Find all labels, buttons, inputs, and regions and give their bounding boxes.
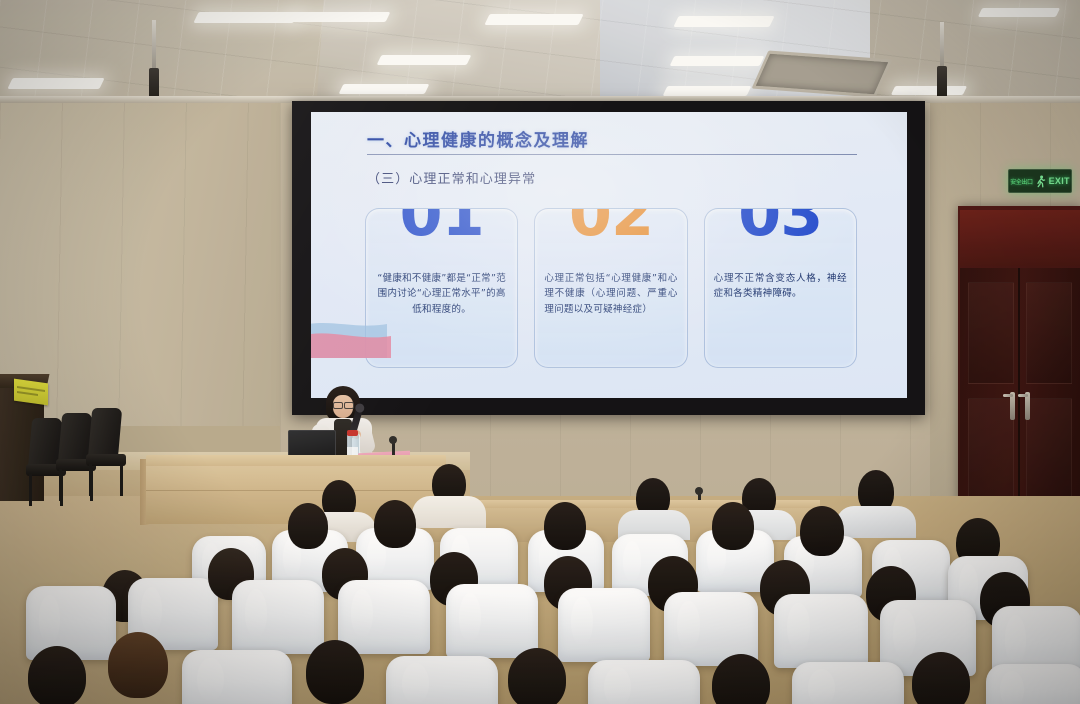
attendee-head [108,632,168,698]
audience-chair [558,588,650,662]
audience-chair [338,580,430,654]
ceiling-light [377,55,472,65]
attendee-shoulders [836,506,916,538]
slide-subtitle: （三）心理正常和心理异常 [367,168,536,187]
slide-card-row: 01 “健康和不健康”都是“正常”范围内讨论“心理正常水平”的高低和程度的。 0… [365,208,857,368]
ceiling-light [339,84,430,94]
attendee-shoulders [412,496,486,528]
ceiling-light [290,12,391,22]
water-bottle-cap [347,430,358,436]
slide-card-number: 01 [366,208,517,245]
audience-chair [232,580,324,654]
attendee-head [544,502,586,550]
door-handle[interactable] [1010,392,1015,420]
audience-chair [588,660,700,704]
presentation-slide: 一、心理健康的概念及理解 （三）心理正常和心理异常 01 “健康和不健康”都是“… [311,112,907,398]
slide-card-number: 03 [705,208,856,245]
slide-card-text: 心理正常包括“心理健康”和心理不健康（心理问题、严重心理问题以及可疑神经症） [544,271,677,317]
ceiling-light [978,8,1060,17]
ceiling-light [673,16,774,27]
lecture-hall-photo: 安全出口 EXIT 一、心理健康的概念及理解 （三）心理正常和心理异常 01 “… [0,0,1080,704]
ceiling-light [670,56,765,66]
ceiling-light [7,78,104,89]
slide-wave-decoration [311,312,445,358]
slide-card: 03 心理不正常含变态人格，神经症和各类精神障碍。 [704,208,857,368]
slide-card: 01 “健康和不健康”都是“正常”范围内讨论“心理正常水平”的高低和程度的。 [365,208,518,368]
door-panel [1026,282,1072,384]
slide-projector-glow [311,112,907,398]
slide-title: 一、心理健康的概念及理解 [367,126,589,151]
ceiling-light [484,14,583,25]
projector-mount-rod [152,20,156,72]
podium-sign [14,379,48,406]
audience-chair [386,656,498,704]
slide-card-text: “健康和不健康”都是“正常”范围内讨论“心理正常水平”的高低和程度的。 [375,271,508,317]
exit-sign-english-label: EXIT [1049,176,1070,186]
ceiling-light [193,12,298,23]
slide-title-divider [367,154,857,155]
running-man-icon [1036,175,1046,188]
ceiling-light [891,86,967,95]
ceiling [0,0,1080,108]
attendee-head [374,500,416,548]
projection-screen: 一、心理健康的概念及理解 （三）心理正常和心理异常 01 “健康和不健康”都是“… [292,101,925,415]
black-chair [86,408,126,494]
audience-chair [182,650,292,704]
audience-chair [774,594,868,668]
attendee-head [800,506,844,556]
exit-sign: 安全出口 EXIT [1008,169,1072,193]
audience-chair [446,584,538,658]
attendee-head [288,503,328,549]
audience-chair [792,662,904,704]
projector-mount-rod [940,22,944,70]
attendee-head [508,648,566,704]
slide-card: 02 心理正常包括“心理健康”和心理不健康（心理问题、严重心理问题以及可疑神经症… [534,208,687,368]
slide-card-text: 心理不正常含变态人格，神经症和各类精神障碍。 [714,271,847,302]
door-handle[interactable] [1025,392,1030,420]
door-panel [968,282,1014,384]
audience-chair [986,664,1080,704]
desk-microphone-head [695,487,703,495]
attendee-head [712,502,754,550]
door-transom [960,210,1080,266]
desk-microphone-head [389,436,397,444]
ceiling-light [663,86,752,96]
exit-sign-chinese-label: 安全出口 [1010,177,1032,186]
slide-card-number: 02 [535,208,686,245]
attendee-head [306,640,364,704]
presenter-glasses [333,402,353,407]
attendee-head [28,646,86,704]
